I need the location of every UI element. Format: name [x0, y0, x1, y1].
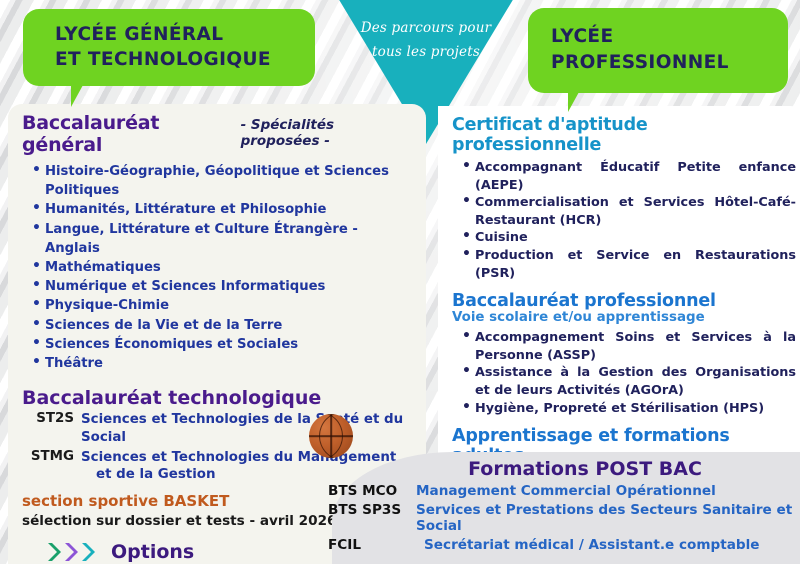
bac-techno-code: STMG: [22, 449, 74, 467]
bac-pro-list: Accompagnement Soins et Services à la Pe…: [462, 329, 796, 417]
bac-techno-title: Baccalauréat technologique: [22, 387, 416, 409]
list-item: Sciences Économiques et Sociales: [32, 335, 416, 354]
right-content-panel: Certificat d'aptitude professionnelle Ac…: [438, 106, 800, 476]
table-row: STMG Sciences et Technologies du Managem…: [22, 449, 416, 467]
cap-list: Accompagnant Éducatif Petite enfance (AE…: [462, 159, 796, 282]
chevron-right-icon: [63, 541, 80, 563]
post-bac-rows: BTS MCO Management Commercial Opérationn…: [332, 483, 800, 553]
list-item: Humanités, Littérature et Philosophie: [32, 200, 416, 219]
chevron-right-icon: [46, 541, 63, 563]
list-item: Production et Service en Restaurations (…: [462, 247, 796, 282]
table-row: BTS SP3S Services et Prestations des Sec…: [328, 502, 800, 534]
bac-techno-code: ST2S: [22, 411, 74, 447]
list-item: Mathématiques: [32, 258, 416, 277]
list-item: Histoire-Géographie, Géopolitique et Sci…: [32, 162, 416, 200]
bubble-lycee-general[interactable]: LYCÉE GÉNÉRAL ET TECHNOLOGIQUE: [23, 9, 315, 86]
bubble-left-line-2: ET TECHNOLOGIQUE: [55, 47, 315, 72]
cap-title: Certificat d'aptitude professionnelle: [452, 115, 796, 155]
post-bac-code: FCIL: [328, 537, 406, 553]
bac-general-specialites-list: Histoire-Géographie, Géopolitique et Sci…: [32, 162, 416, 373]
list-item: Numérique et Sciences Informatiques: [32, 277, 416, 296]
poster-root: Des parcours pour tous les projets LYCÉE…: [0, 0, 800, 564]
options-title: Options: [111, 541, 194, 563]
basketball-icon: [309, 414, 353, 458]
post-bac-code: BTS MCO: [328, 483, 406, 499]
post-bac-panel: Formations POST BAC BTS MCO Management C…: [332, 452, 800, 564]
banner-line-1: Des parcours pour: [338, 20, 514, 36]
bac-pro-title: Baccalauréat professionnel: [452, 291, 796, 311]
list-item: Accompagnement Soins et Services à la Pe…: [462, 329, 796, 364]
list-item: Théâtre: [32, 354, 416, 373]
table-row: ST2S Sciences et Technologies de la Sant…: [22, 411, 416, 447]
chevron-right-icon: [80, 541, 97, 563]
list-item: Langue, Littérature et Culture Étrangère…: [32, 220, 416, 258]
bac-techno-name: Sciences et Technologies de la Santé et …: [81, 411, 416, 447]
list-item: Accompagnant Éducatif Petite enfance (AE…: [462, 159, 796, 194]
post-bac-name: Management Commercial Opérationnel: [416, 483, 716, 499]
bac-general-subtitle: - Spécialités proposées -: [241, 117, 416, 149]
basketball-seam: [319, 414, 353, 458]
list-item: Assistance à la Gestion des Organisation…: [462, 364, 796, 399]
post-bac-name: Secrétariat médical / Assistant.e compta…: [424, 537, 760, 553]
table-row: BTS MCO Management Commercial Opérationn…: [328, 483, 800, 499]
list-item: Physique-Chimie: [32, 296, 416, 315]
list-item: Sciences de la Vie et de la Terre: [32, 316, 416, 335]
bac-general-title: Baccalauréat général: [22, 112, 232, 156]
triple-chevron-icon: [46, 541, 97, 563]
post-bac-code: BTS SP3S: [328, 502, 406, 534]
bubble-left-line-1: LYCÉE GÉNÉRAL: [55, 22, 315, 47]
bac-pro-subtitle: Voie scolaire et/ou apprentissage: [452, 310, 796, 325]
list-item: Hygiène, Propreté et Stérilisation (HPS): [462, 400, 796, 418]
post-bac-name: Services et Prestations des Secteurs San…: [416, 502, 800, 534]
list-item: Cuisine: [462, 229, 796, 247]
bac-general-header: Baccalauréat général - Spécialités propo…: [22, 112, 416, 156]
bubble-lycee-professionnel[interactable]: LYCÉE PROFESSIONNEL: [528, 8, 788, 93]
table-row: FCIL Secrétariat médical / Assistant.e c…: [328, 537, 800, 553]
bubble-right-line-1: LYCÉE: [551, 24, 788, 50]
bubble-right-line-2: PROFESSIONNEL: [551, 50, 788, 76]
list-item: Commercialisation et Services Hôtel-Café…: [462, 194, 796, 229]
post-bac-title: Formations POST BAC: [358, 458, 800, 480]
